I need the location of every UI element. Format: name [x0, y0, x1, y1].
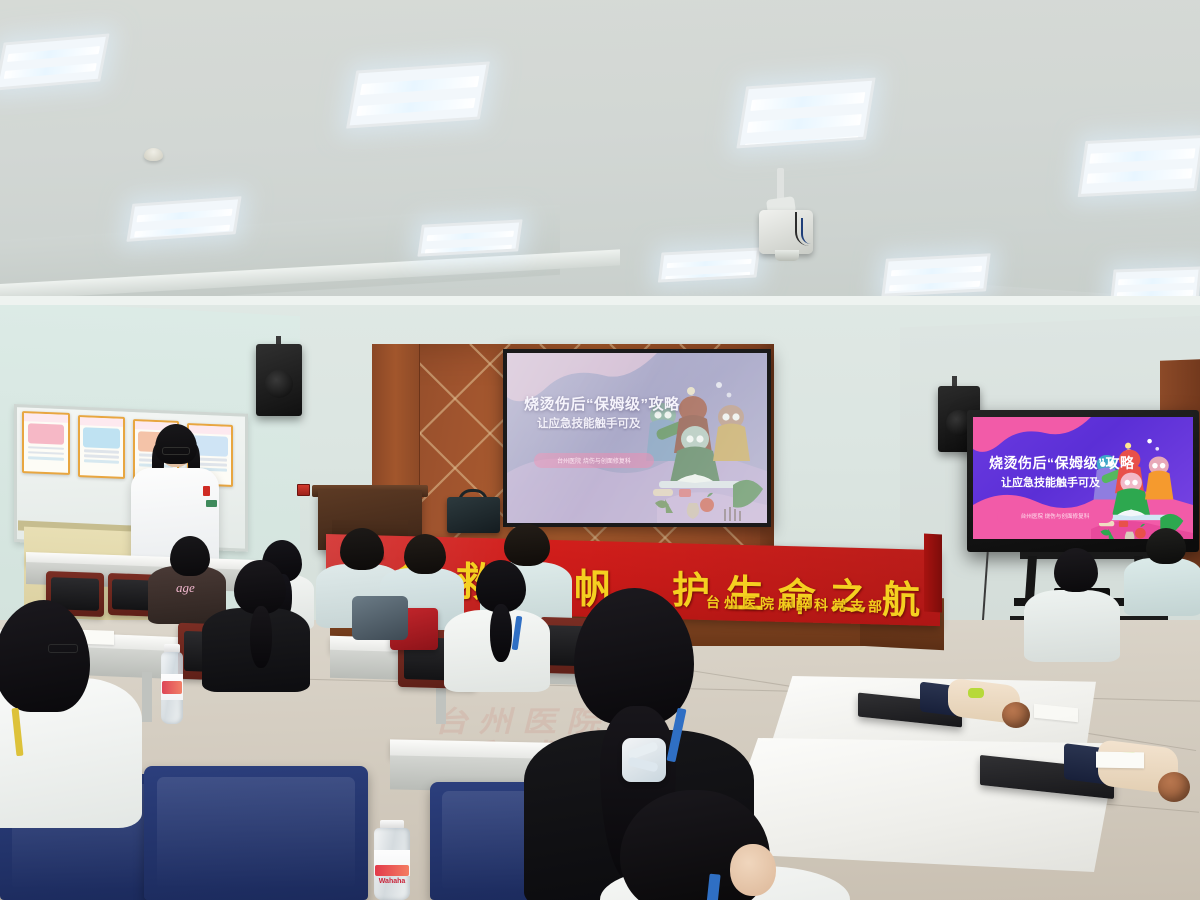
ceiling-light-panel	[126, 196, 241, 242]
cpr-manikin-back	[912, 676, 1112, 738]
attendee-ponytail	[250, 606, 272, 668]
ceiling-light-panel	[881, 253, 990, 296]
banner-character: 航	[882, 569, 920, 625]
ceiling-light-panel	[1078, 135, 1200, 197]
handout-paper	[1096, 752, 1144, 769]
attendee-hand	[730, 844, 776, 896]
attendee-glasses-icon	[48, 644, 78, 653]
fire-alarm-call-point[interactable]	[297, 484, 310, 496]
attendee-torso	[1124, 558, 1200, 616]
lecture-hall-photo: 烧烫伤后“保姆级”攻略 让应急技能触手可及 台州医院 烧伤与创面修复科	[0, 0, 1200, 900]
poster-heading	[189, 425, 231, 434]
shirt-graphic: age	[176, 580, 206, 608]
slide-tv-badge: 台州医院 烧伤与创面修复科	[997, 509, 1113, 523]
presenter-badge	[203, 486, 210, 496]
desk-leg	[142, 672, 152, 722]
poster-heading	[24, 413, 68, 422]
bottle-label-graphic	[375, 865, 408, 876]
ceiling-light-panel	[346, 61, 490, 128]
projection-screen-surface: 烧烫伤后“保姆级”攻略 让应急技能触手可及 台州医院 烧伤与创面修复科	[507, 353, 767, 523]
slide-tv-title: 烧烫伤后“保姆级”攻略	[989, 453, 1135, 473]
ceiling-light-panel	[658, 247, 760, 282]
manikin-sensor	[968, 688, 984, 698]
attendee-hair	[170, 536, 210, 576]
attendee-hair	[340, 528, 384, 570]
projector-cable-blue	[801, 218, 811, 244]
wall-speaker-left	[256, 344, 302, 416]
smoke-detector-icon	[144, 148, 163, 161]
presenter-pocket-badge	[206, 500, 217, 507]
attendee-torso	[1024, 590, 1120, 662]
poster-illustration	[28, 423, 65, 444]
water-bottle-2[interactable]: Wahaha	[370, 820, 414, 900]
manikin-head	[1158, 772, 1190, 802]
attendee-hair	[1054, 548, 1098, 592]
poster-heading	[80, 417, 123, 426]
manikin-head	[1002, 702, 1030, 728]
ceiling-light-panel	[0, 33, 110, 90]
slide-tv-subtitle: 让应急技能触手可及	[1001, 474, 1100, 490]
projection-screen: 烧烫伤后“保姆级”攻略 让应急技能触手可及 台州医院 烧伤与创面修复科	[503, 349, 771, 527]
attendee-hair	[404, 534, 446, 574]
bottle-label-graphic	[162, 681, 181, 694]
screen-glare	[507, 353, 767, 523]
banner-character: 护	[672, 559, 710, 615]
projector-lens	[775, 250, 799, 261]
wall-ceiling-trim	[0, 296, 1200, 305]
instruction-poster	[22, 411, 70, 475]
attendee-hair	[504, 524, 550, 566]
backpack-grey	[352, 596, 408, 640]
manikin-accessory-bag	[1034, 704, 1078, 723]
tv-screen: 烧烫伤后“保姆级”攻略 让应急技能触手可及 台州医院 烧伤与创面修复科	[973, 417, 1193, 539]
slide-on-tv: 烧烫伤后“保姆级”攻略 让应急技能触手可及 台州医院 烧伤与创面修复科	[973, 417, 1193, 539]
attendee-hair	[1146, 528, 1186, 564]
banner-right-fold	[924, 534, 942, 613]
presenter-hair	[155, 424, 197, 464]
presenter-glasses-icon	[162, 447, 190, 455]
water-bottle-1[interactable]	[158, 644, 186, 724]
ceiling-projector	[755, 168, 817, 272]
cpr-manikin-front	[1058, 738, 1200, 814]
ceiling-light-panel	[417, 219, 522, 256]
ceiling-light-panel	[736, 78, 875, 149]
poster-illustration	[83, 427, 119, 448]
attendee-ponytail	[490, 604, 512, 662]
instruction-poster	[78, 415, 125, 479]
bottle-brand-text: Wahaha	[376, 878, 408, 886]
chair-blue-2[interactable]	[144, 766, 368, 900]
laptop-bag	[447, 497, 500, 533]
